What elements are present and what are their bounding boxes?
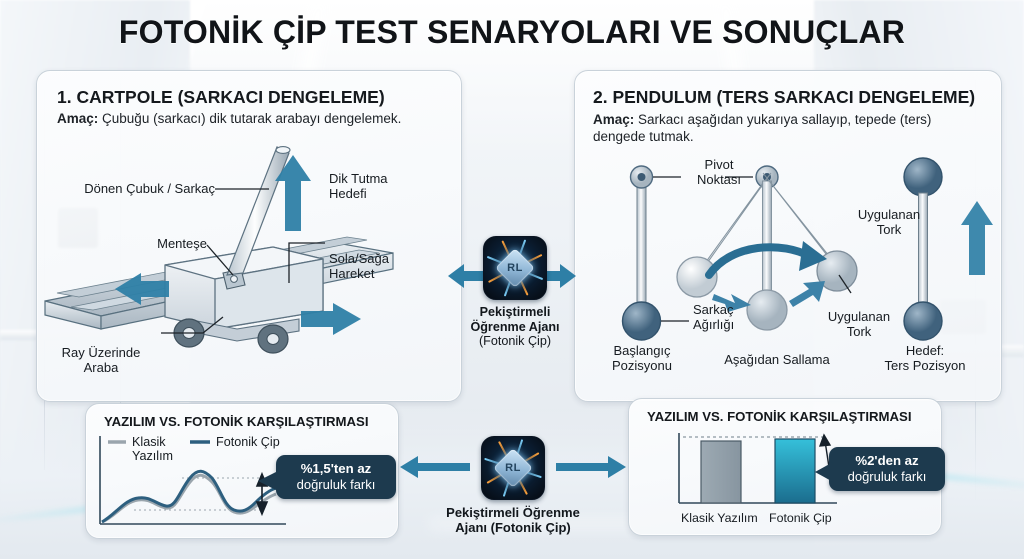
label-goal-line2: Hedefi [329,186,439,201]
callout-right-line1: %2'den az [839,453,935,469]
label-bob-line1: Sarkaç [693,302,773,317]
cartpole-objective-text: Çubuğu (sarkacı) dik tutarak arabayı den… [102,111,401,126]
label-bob-line2: Ağırlığı [693,317,773,332]
callout-right-tail [815,461,835,485]
photonic-chip-icon: RL [481,436,545,500]
chip-rl-label: RL [507,262,523,274]
label-start-line1: Başlangıç [589,343,695,358]
pendulum-objective-text: Sarkacı aşağıdan yukarıya sallayıp, tepe… [593,112,931,144]
arrow-right-bottom [556,456,626,478]
torque-arrow-small [789,281,825,307]
label-cart-line2: Araba [41,360,161,375]
cmp-left-title: YAZILIM VS. FOTONİK KARŞILAŞTIRMASI [104,414,369,429]
label-swing: Aşağıdan Sallama [697,352,857,367]
page-title: FOTONİK ÇİP TEST SENARYOLARI VE SONUÇLAR [0,14,1024,51]
pendulum-bob [623,302,661,340]
label-pivot: Pivot Noktası [681,157,757,187]
panel-comparison-right: YAZILIM VS. FOTONİK KARŞILAŞTIRMASI Klas… [628,398,942,536]
callout-left: %1,5'ten az doğruluk farkı [276,455,396,499]
label-torque-lower-line2: Tork [811,324,907,339]
legend-label-photonic: Fotonik Çip [216,435,316,450]
cmp-right-title: YAZILIM VS. FOTONİK KARŞILAŞTIRMASI [647,409,912,424]
bar-label-classic: Klasik Yazılım [681,511,781,526]
photonic-chip-icon: RL [483,236,547,300]
panel-pendulum: 2. PENDULUM (TERS SARKACI DENGELEME) Ama… [574,70,1002,402]
label-goal-line1: Dik Tutma [329,171,439,186]
pendulum-title: 2. PENDULUM (TERS SARKACI DENGELEME) [593,87,975,108]
label-pivot-line1: Pivot [681,157,757,172]
bar-label-photonic: Fotonik Çip [769,511,869,526]
agent-chip-center-label: Pekiştirmeli Öğrenme Ajanı (Fotonik Çip) [470,305,560,349]
agent-bottom-label-line1: Pekiştirmeli Öğrenme [398,505,628,520]
legend-label-classic: Klasik Yazılım [132,435,194,463]
pendulum-bob [904,158,942,196]
label-pole: Dönen Çubuk / Sarkaç [55,181,215,196]
panel-comparison-left: YAZILIM VS. FOTONİK KARŞILAŞTIRMASI Klas… [85,403,399,539]
agent-label-line3: (Fotonik Çip) [470,334,560,349]
cartpole-objective: Amaç: Çubuğu (sarkacı) dik tutarak araba… [57,111,401,126]
label-target-line1: Hedef: [863,343,987,358]
label-start-line2: Pozisyonu [589,358,695,373]
bar-photonic [775,439,815,503]
label-torque-upper-line1: Uygulanan [841,207,937,222]
chip-rl-label: RL [505,462,521,474]
cartpole-title: 1. CARTPOLE (SARKACI DENGELEME) [57,87,385,108]
pivot-point [904,302,942,340]
arrow-up-target [961,201,993,275]
agent-bottom-label-line2: Ajanı (Fotonik Çip) [398,520,628,535]
callout-left-tail [258,470,280,494]
label-target: Hedef: Ters Pozisyon [863,343,987,373]
label-pivot-line2: Noktası [681,172,757,187]
label-move-line2: Hareket [329,266,449,281]
callout-left-line2: doğruluk farkı [286,477,386,493]
label-bob: Sarkaç Ağırlığı [693,302,773,332]
legend-classic-line1: Klasik [132,435,194,449]
agent-label-line2: Öğrenme Ajanı [470,320,560,335]
label-hinge: Menteşe [97,236,207,251]
agent-label-line1: Pekiştirmeli [470,305,560,320]
label-goal: Dik Tutma Hedefi [329,171,439,201]
series-classic [102,475,276,522]
label-torque-lower-line1: Uygulanan [811,309,907,324]
label-cart-line1: Ray Üzerinde [41,345,161,360]
label-start-position: Başlangıç Pozisyonu [589,343,695,373]
label-target-line2: Ters Pozisyon [863,358,987,373]
callout-left-line1: %1,5'ten az [286,461,386,477]
bar-classic [701,441,741,503]
cartpole-objective-label: Amaç: [57,111,98,126]
label-torque-lower: Uygulanan Tork [811,309,907,339]
label-cart: Ray Üzerinde Araba [41,345,161,375]
pendulum-target [904,158,993,340]
pendulum-objective-label: Amaç: [593,112,634,127]
callout-right: %2'den az doğruluk farkı [829,447,945,491]
pendulum-start [623,166,661,340]
agent-chip-bottom[interactable]: RL Pekiştirmeli Öğrenme Ajanı (Fotonik Ç… [466,436,560,535]
agent-chip-center[interactable]: RL Pekiştirmeli Öğrenme Ajanı (Fotonik Ç… [470,236,560,349]
pendulum-objective: Amaç: Sarkacı aşağıdan yukarıya sallayıp… [593,111,983,145]
label-move-line1: Sola/Sağa [329,251,449,266]
callout-right-line2: doğruluk farkı [839,469,935,485]
agent-chip-bottom-label: Pekiştirmeli Öğrenme Ajanı (Fotonik Çip) [398,505,628,535]
series-photonic [102,471,276,522]
label-torque-upper-line2: Tork [841,222,937,237]
panel-cartpole: 1. CARTPOLE (SARKACI DENGELEME) Amaç: Çu… [36,70,462,402]
legend-classic-line2: Yazılım [132,449,194,463]
label-move: Sola/Sağa Hareket [329,251,449,281]
label-torque-upper: Uygulanan Tork [841,207,937,237]
arrow-left-bottom [400,456,470,478]
